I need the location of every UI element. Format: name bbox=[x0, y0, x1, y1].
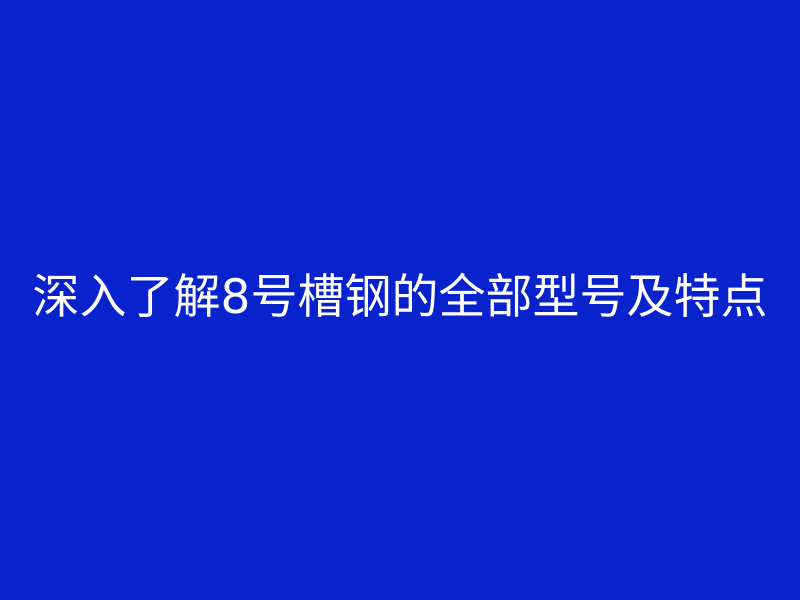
headline-block: 深入了解8号槽钢的全部型号及特点 bbox=[0, 276, 800, 320]
page-title: 深入了解8号槽钢的全部型号及特点 bbox=[33, 276, 768, 320]
banner-canvas: 深入了解8号槽钢的全部型号及特点 bbox=[0, 0, 800, 600]
